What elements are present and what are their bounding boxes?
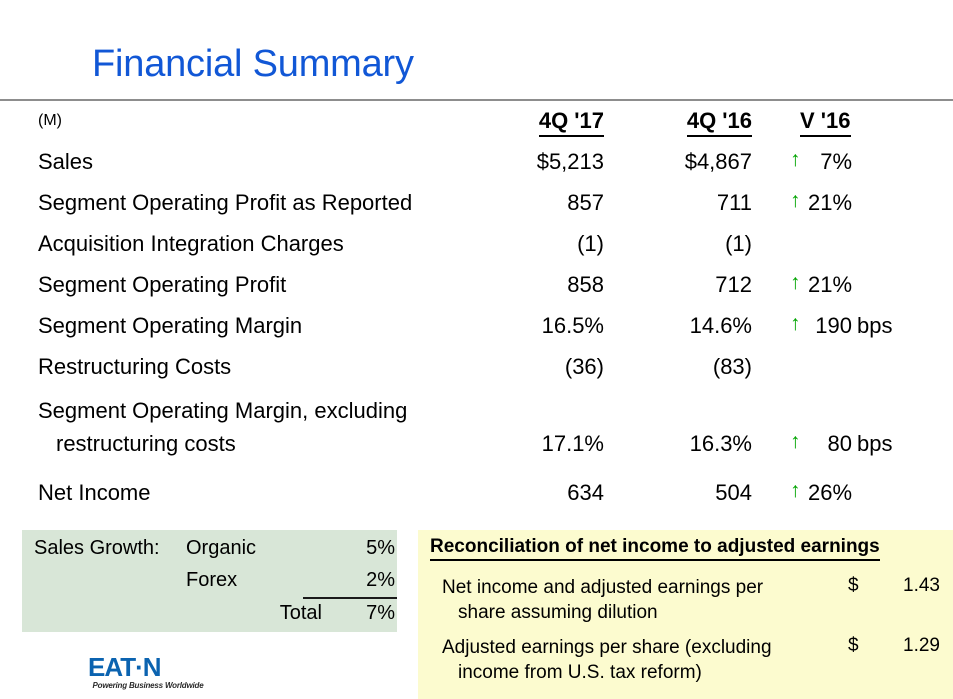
column-header-variance: V '16 [800, 108, 900, 137]
reconciliation-line2: share assuming dilution [442, 600, 832, 625]
sales-growth-label: Total [22, 602, 322, 625]
title-divider [0, 99, 953, 101]
variance-value: 7% [808, 149, 852, 175]
row-value-4q17: $5,213 [452, 149, 604, 175]
up-arrow-icon: ↑ [790, 272, 806, 294]
sales-growth-value: 5% [327, 537, 395, 560]
variance-value: 21% [808, 272, 852, 298]
row-label-line2: restructuring costs [56, 431, 236, 457]
row-label: Segment Operating Margin, excluding [38, 398, 407, 424]
row-label: Restructuring Costs [38, 354, 231, 380]
sales-growth-total-row: Total 7% [22, 602, 397, 634]
reconciliation-description: Adjusted earnings per share (excluding i… [442, 635, 832, 685]
reconciliation-line2: income from U.S. tax reform) [442, 660, 832, 685]
column-header-4q17: 4Q '17 [452, 108, 604, 137]
row-label: Sales [38, 149, 93, 175]
variance-value: 21% [808, 190, 852, 216]
sales-growth-box: Sales Growth: Organic 5% Forex 2% Total … [22, 530, 397, 632]
table-header-row: (M) 4Q '17 4Q '16 V '16 [0, 108, 953, 149]
reconciliation-title: Reconciliation of net income to adjusted… [430, 536, 880, 561]
row-value-4q16: 16.3% [600, 431, 752, 457]
row-variance: ↑21% [790, 272, 950, 298]
row-value-4q16: 711 [600, 190, 752, 216]
eaton-logo: EAT·N Powering Business Worldwide [88, 654, 208, 694]
row-label: Net Income [38, 480, 151, 506]
row-label: Segment Operating Profit as Reported [38, 190, 412, 216]
column-header-4q16: 4Q '16 [600, 108, 752, 137]
table-row: Net Income 634 504 ↑26% [0, 480, 953, 521]
reconciliation-amount: 1.29 [870, 635, 940, 657]
row-variance: ↑80bps [790, 431, 950, 457]
row-value-4q17: 17.1% [452, 431, 604, 457]
sales-growth-row: Organic 5% [22, 537, 397, 569]
sales-growth-value: 7% [327, 602, 395, 625]
row-value-4q17: 858 [452, 272, 604, 298]
page-title: Financial Summary [92, 43, 414, 86]
up-arrow-icon: ↑ [790, 149, 806, 171]
variance-unit: bps [857, 313, 892, 338]
row-label: Segment Operating Margin [38, 313, 302, 339]
eaton-tagline: Powering Business Worldwide [88, 681, 208, 690]
row-variance: ↑190bps [790, 313, 950, 339]
table-row: Segment Operating Profit as Reported 857… [0, 190, 953, 231]
row-value-4q16: (1) [600, 231, 752, 257]
row-value-4q17: 16.5% [452, 313, 604, 339]
row-label: Segment Operating Profit [38, 272, 286, 298]
row-value-4q16: 504 [600, 480, 752, 506]
up-arrow-icon: ↑ [790, 313, 806, 335]
row-value-4q17: (1) [452, 231, 604, 257]
table-row: Segment Operating Margin 16.5% 14.6% ↑19… [0, 313, 953, 354]
reconciliation-amount: 1.43 [870, 575, 940, 597]
sales-growth-label: Organic [186, 537, 256, 560]
row-value-4q17: 634 [452, 480, 604, 506]
row-value-4q16: 712 [600, 272, 752, 298]
table-row: Restructuring Costs (36) (83) [0, 354, 953, 395]
sales-growth-value: 2% [327, 569, 395, 592]
unit-label: (M) [38, 112, 62, 130]
reconciliation-description: Net income and adjusted earnings per sha… [442, 575, 832, 625]
up-arrow-icon: ↑ [790, 190, 806, 212]
currency-symbol: $ [848, 575, 859, 597]
reconciliation-line1: Adjusted earnings per share (excluding [442, 637, 772, 658]
up-arrow-icon: ↑ [790, 431, 806, 453]
reconciliation-box: Reconciliation of net income to adjusted… [418, 530, 953, 699]
row-variance: ↑21% [790, 190, 950, 216]
currency-symbol: $ [848, 635, 859, 657]
reconciliation-line1: Net income and adjusted earnings per [442, 577, 763, 598]
eaton-wordmark: EAT·N [88, 654, 208, 680]
variance-value: 26% [808, 480, 852, 506]
table-row: Acquisition Integration Charges (1) (1) [0, 231, 953, 272]
row-variance: ↑26% [790, 480, 950, 506]
sales-growth-total-divider [303, 597, 397, 599]
row-label: Acquisition Integration Charges [38, 231, 344, 257]
up-arrow-icon: ↑ [790, 480, 806, 502]
row-value-4q17: 857 [452, 190, 604, 216]
table-row: Segment Operating Profit 858 712 ↑21% [0, 272, 953, 313]
row-value-4q16: $4,867 [600, 149, 752, 175]
row-value-4q16: 14.6% [600, 313, 752, 339]
table-row: Sales $5,213 $4,867 ↑7% [0, 149, 953, 190]
sales-growth-label: Forex [186, 569, 237, 592]
row-value-4q16: (83) [600, 354, 752, 380]
variance-unit: bps [857, 431, 892, 456]
table-row: Segment Operating Margin, excluding rest… [0, 398, 953, 480]
variance-value: 80 [808, 431, 852, 457]
row-value-4q17: (36) [452, 354, 604, 380]
row-variance: ↑7% [790, 149, 950, 175]
variance-value: 190 [808, 313, 852, 339]
